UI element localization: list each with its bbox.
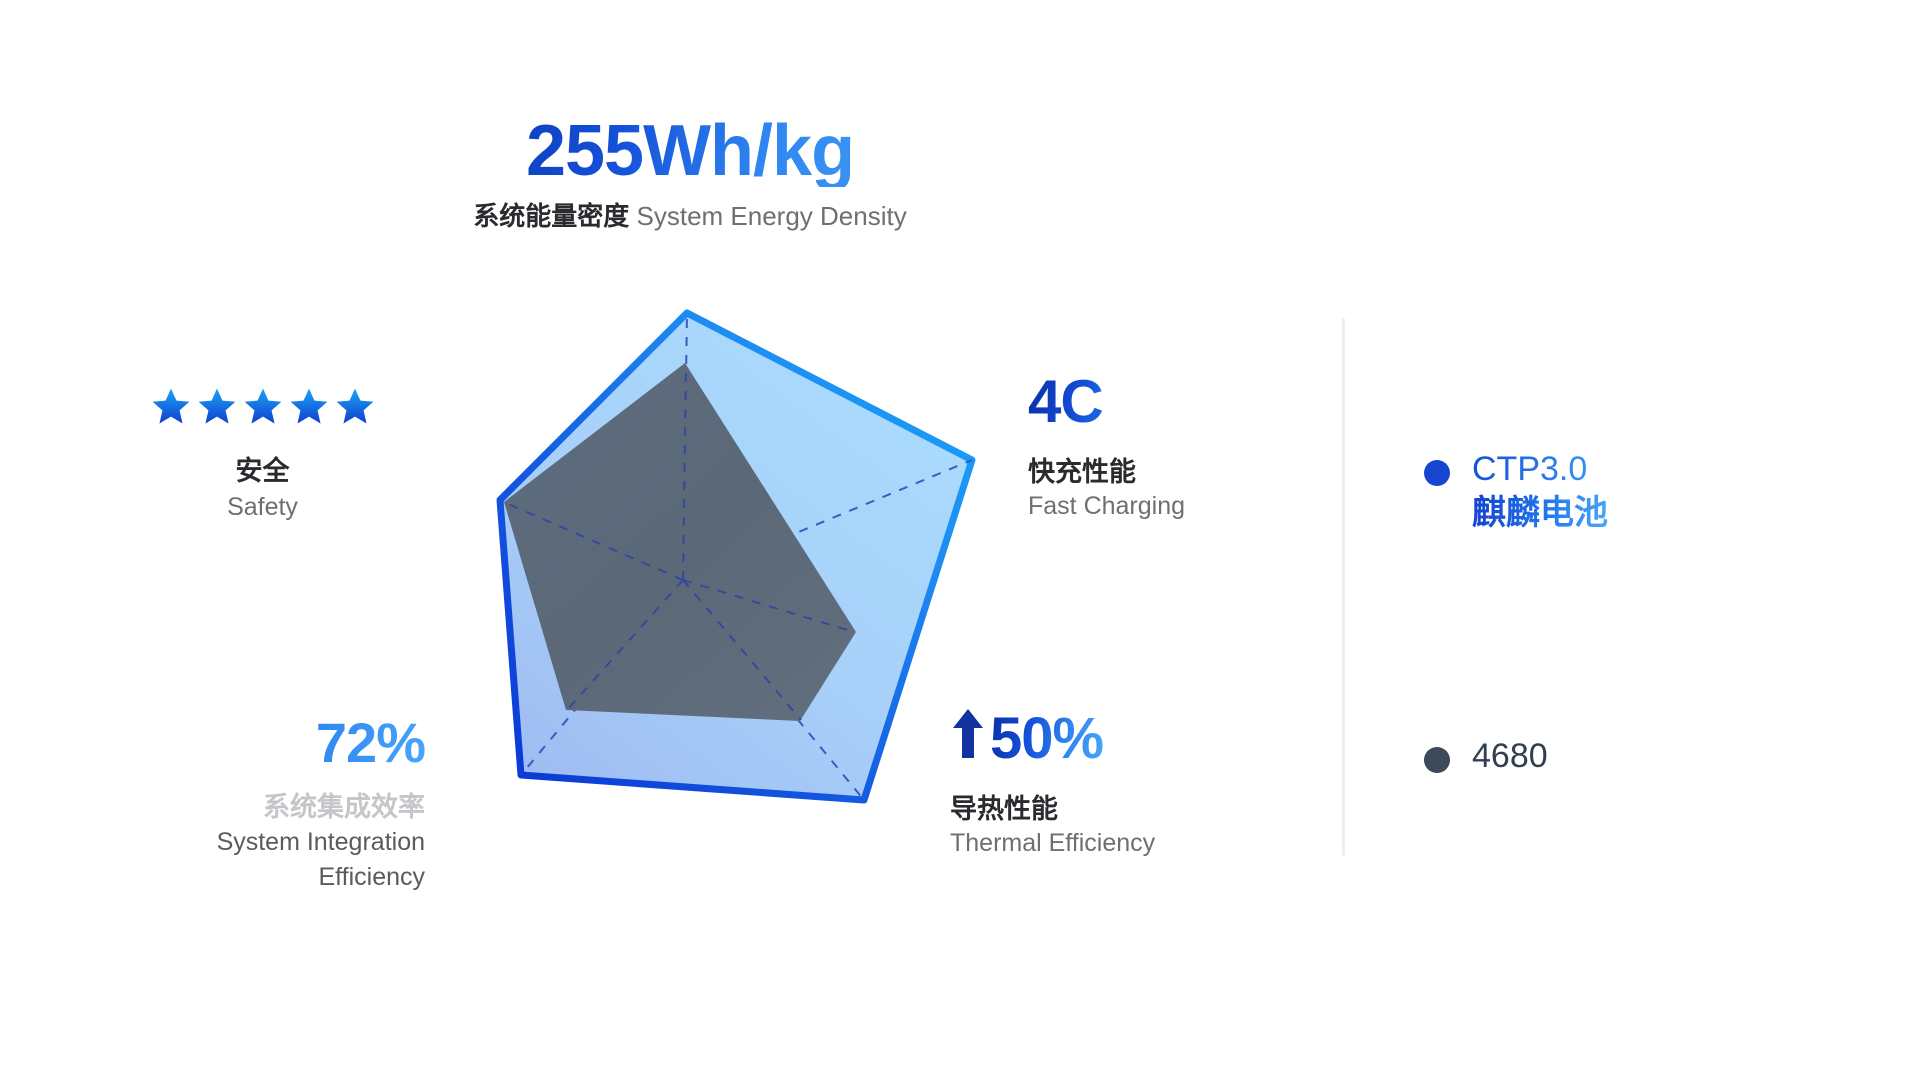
integration-efficiency-label-en-line1: System Integration bbox=[60, 825, 425, 860]
radar-chart bbox=[470, 280, 1030, 855]
legend-dot-ctp30 bbox=[1424, 460, 1450, 486]
metric-thermal-efficiency: 50% 导热性能 Thermal Efficiency bbox=[950, 708, 1155, 861]
fast-charging-value: 4C bbox=[1028, 372, 1185, 432]
integration-efficiency-label-cn: 系统集成效率 bbox=[60, 789, 425, 825]
star-icon bbox=[196, 385, 238, 427]
infographic-canvas: 255Wh/kg 系统能量密度 System Energy Density bbox=[0, 0, 1920, 1080]
metric-safety: 安全 Safety bbox=[100, 385, 425, 525]
legend-label-ctp30-line2: 麒麟电池 bbox=[1472, 492, 1608, 536]
star-icon bbox=[150, 385, 192, 427]
arrow-up-icon bbox=[950, 706, 986, 767]
legend-item-4680[interactable]: 4680 bbox=[1424, 735, 1824, 779]
chart-legend: CTP3.0 麒麟电池 4680 bbox=[1424, 448, 1824, 779]
star-icon bbox=[288, 385, 330, 427]
integration-efficiency-value: 72% bbox=[60, 715, 425, 771]
legend-label-ctp30: CTP3.0 麒麟电池 bbox=[1472, 448, 1608, 535]
integration-efficiency-label-en-line2: Efficiency bbox=[60, 860, 425, 895]
safety-label-cn: 安全 bbox=[100, 453, 425, 489]
legend-label-4680: 4680 bbox=[1472, 735, 1548, 779]
energy-density-label-cn: 系统能量密度 bbox=[473, 201, 629, 231]
fast-charging-label-en: Fast Charging bbox=[1028, 490, 1185, 524]
safety-label-en: Safety bbox=[100, 491, 425, 525]
thermal-efficiency-label-en: Thermal Efficiency bbox=[950, 827, 1155, 861]
legend-dot-4680 bbox=[1424, 747, 1450, 773]
legend-label-ctp30-line1: CTP3.0 bbox=[1472, 448, 1608, 492]
thermal-efficiency-value: 50% bbox=[990, 710, 1103, 768]
radar-chart-svg bbox=[470, 280, 1030, 850]
arrow-up-glyph bbox=[950, 706, 986, 762]
metric-system-integration-efficiency: 72% 系统集成效率 System Integration Efficiency bbox=[60, 715, 425, 894]
thermal-efficiency-label-cn: 导热性能 bbox=[950, 791, 1155, 827]
safety-star-rating bbox=[100, 385, 425, 427]
energy-density-label-en: System Energy Density bbox=[637, 201, 907, 231]
thermal-efficiency-value-row: 50% bbox=[950, 708, 1155, 769]
star-icon bbox=[242, 385, 284, 427]
metric-fast-charging: 4C 快充性能 Fast Charging bbox=[1028, 372, 1185, 524]
fast-charging-label-cn: 快充性能 bbox=[1028, 454, 1185, 490]
legend-item-ctp30[interactable]: CTP3.0 麒麟电池 bbox=[1424, 448, 1824, 535]
star-icon bbox=[334, 385, 376, 427]
vertical-divider bbox=[1342, 318, 1345, 856]
energy-density-value: 255Wh/kg bbox=[390, 115, 990, 187]
legend-label-4680-line1: 4680 bbox=[1472, 735, 1548, 779]
energy-density-headline: 255Wh/kg 系统能量密度 System Energy Density bbox=[390, 115, 990, 232]
energy-density-label: 系统能量密度 System Energy Density bbox=[390, 201, 990, 232]
